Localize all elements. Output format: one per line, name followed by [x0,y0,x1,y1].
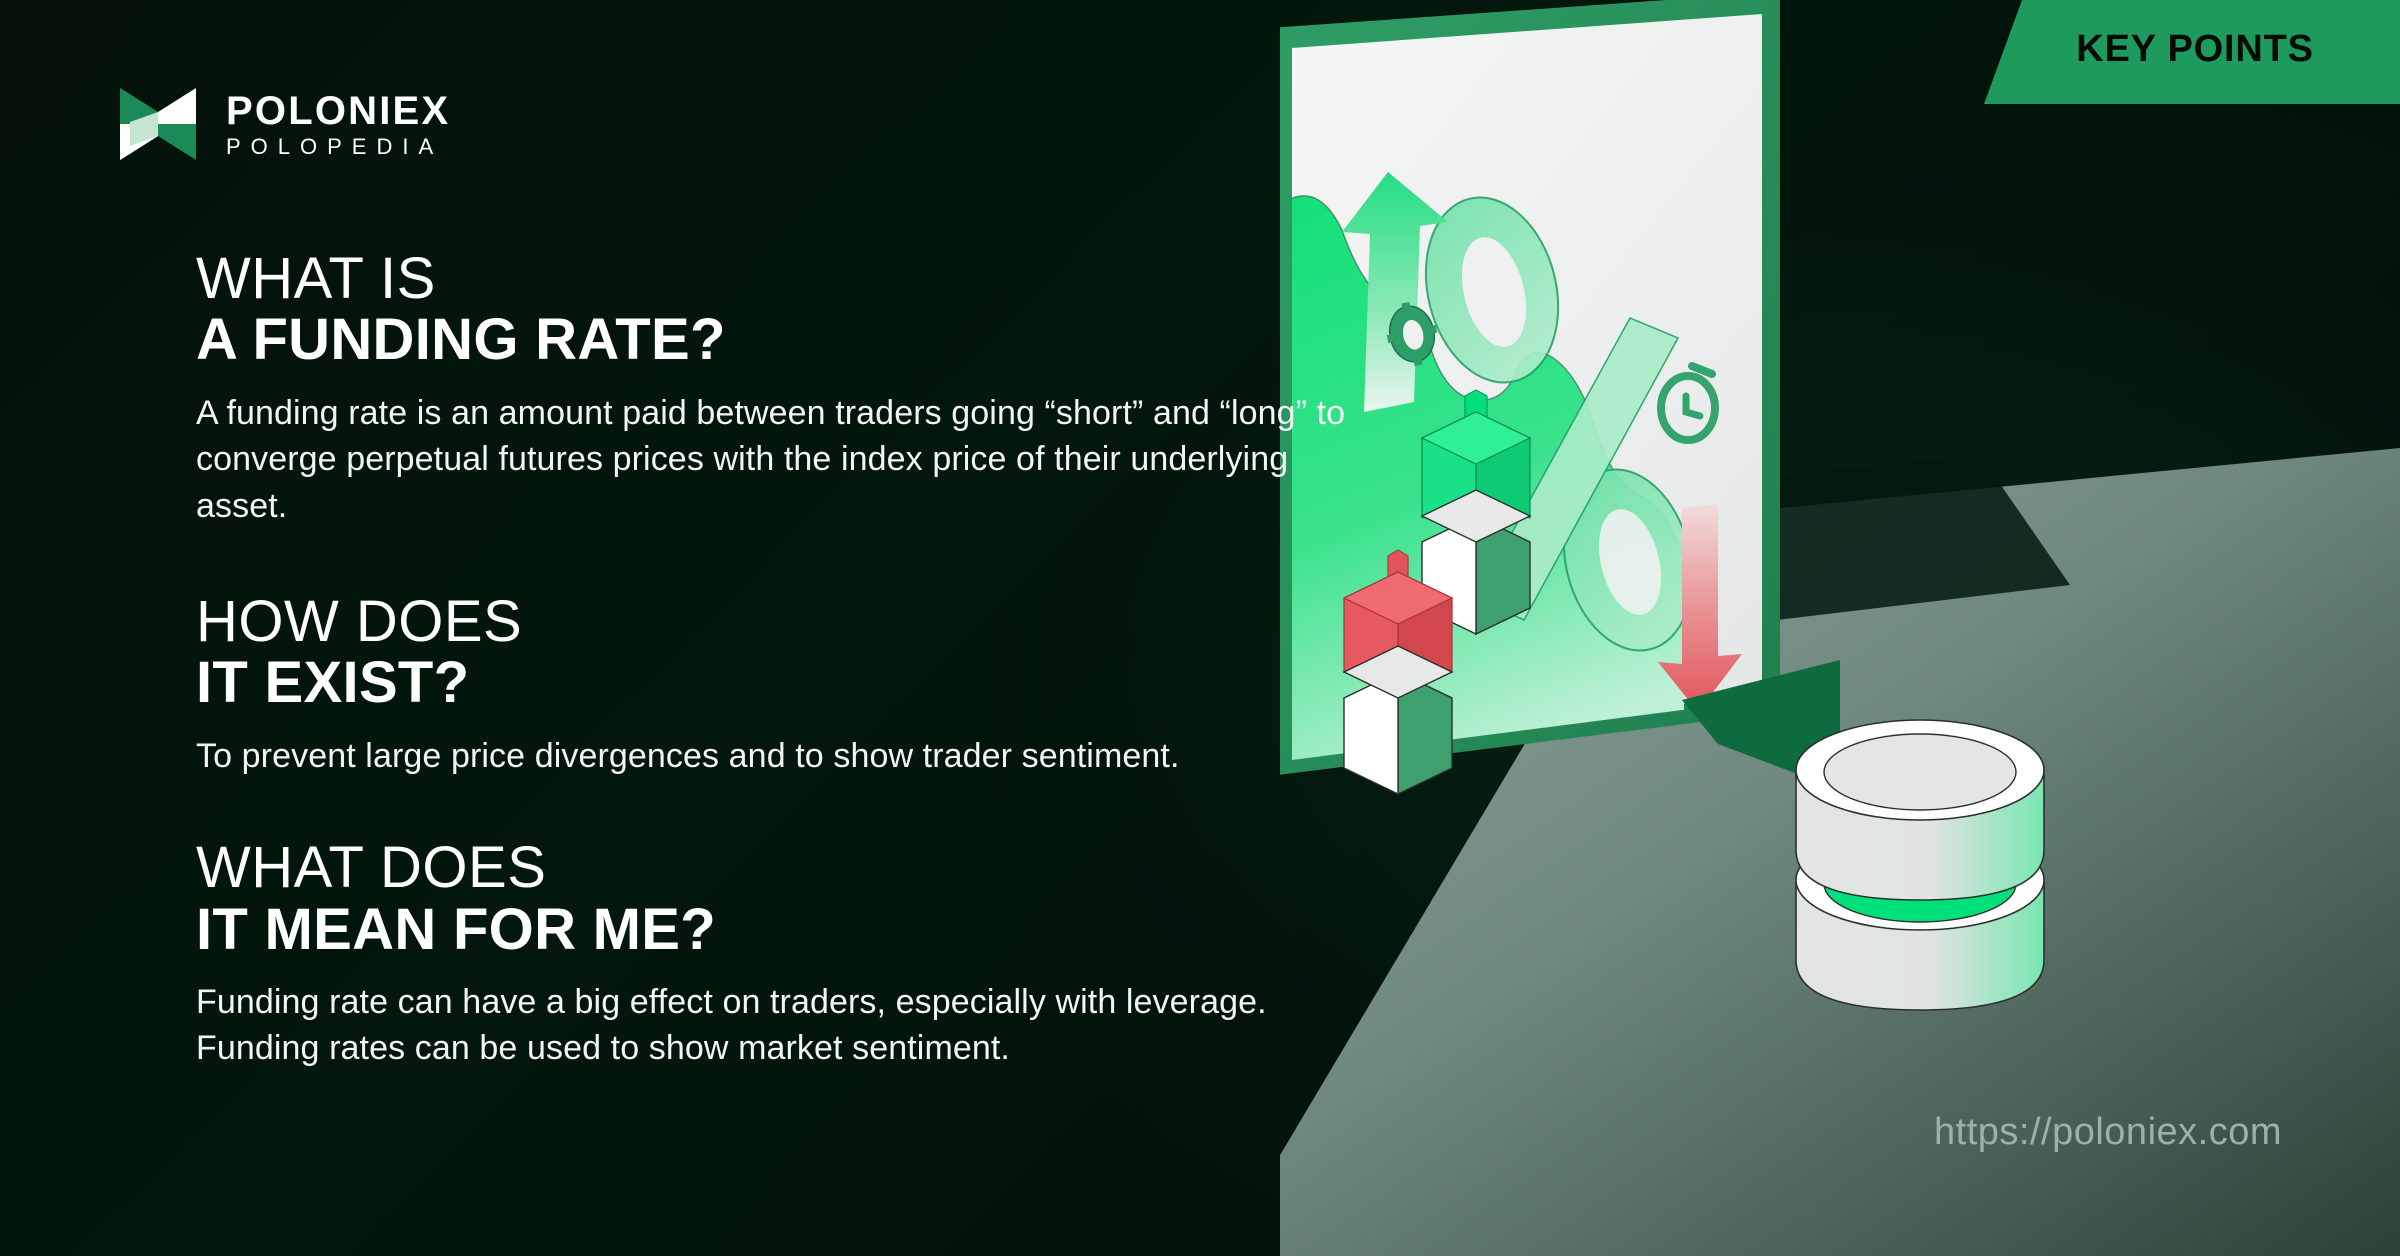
section-what-does-it-mean-for-me: WHAT DOES IT MEAN FOR ME? Funding rate c… [196,837,1376,1072]
section-what-is-a-funding-rate: WHAT IS A FUNDING RATE? A funding rate i… [196,248,1376,529]
section-3-body: Funding rate can have a big effect on tr… [196,979,1376,1071]
section-2-heading-bold: IT EXIST? [196,652,1376,715]
section-2-body: To prevent large price divergences and t… [196,733,1376,779]
poloniex-bowtie-logo-icon [116,82,200,166]
infographic-canvas: KEY POINTS POLONIEX POLOPEDIA WHAT IS A … [0,0,2400,1256]
brand-logo[interactable]: POLONIEX POLOPEDIA [116,82,450,166]
content-column: WHAT IS A FUNDING RATE? A funding rate i… [196,248,1376,1072]
key-points-badge: KEY POINTS [1960,0,2400,104]
site-url[interactable]: https://poloniex.com [1934,1111,2282,1154]
section-how-does-it-exist: HOW DOES IT EXIST? To prevent large pric… [196,591,1376,779]
coin-stack [1796,720,2044,1010]
section-3-heading-light: WHAT DOES [196,837,1376,898]
brand-series: POLOPEDIA [226,136,450,158]
section-1-body: A funding rate is an amount paid between… [196,390,1376,529]
section-3-heading-bold: IT MEAN FOR ME? [196,899,1376,962]
brand-name: POLONIEX [226,91,450,131]
illustration-isometric-trading-scene [1280,0,2400,1256]
section-1-heading-bold: A FUNDING RATE? [196,309,1376,372]
section-1-heading-light: WHAT IS [196,248,1376,309]
key-points-label: KEY POINTS [2076,28,2313,71]
section-2-heading-light: HOW DOES [196,591,1376,652]
